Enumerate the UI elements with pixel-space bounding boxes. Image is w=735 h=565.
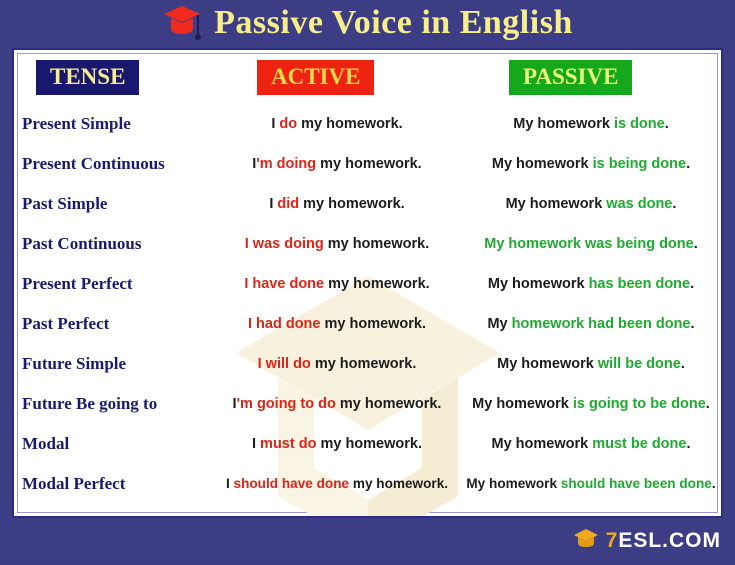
passive-sentence: My homework had been done. xyxy=(462,304,720,344)
passive-pre: My homework xyxy=(488,276,589,292)
active-highlight: I have done xyxy=(244,276,324,292)
active-sentence: I'm doing my homework. xyxy=(212,144,462,184)
passive-post: . xyxy=(672,196,676,212)
passive-pre: My homework xyxy=(491,436,592,452)
active-post: my homework. xyxy=(324,276,430,292)
active-sentence: I have done my homework. xyxy=(212,264,462,304)
passive-sentence: My homework must be done. xyxy=(462,424,720,464)
active-pre: I xyxy=(252,436,260,452)
passive-pre: My homework xyxy=(472,396,573,412)
title-bar: Passive Voice in English xyxy=(0,0,735,46)
active-sentence: I had done my homework. xyxy=(212,304,462,344)
table-header-row: TENSE ACTIVE PASSIVE xyxy=(14,50,721,104)
graduation-cap-icon xyxy=(162,3,202,46)
active-post: my homework. xyxy=(324,236,430,252)
passive-sentence: My homework will be done. xyxy=(462,344,720,384)
table-row: Modal Perfect I should have done my home… xyxy=(14,464,721,504)
active-post: my homework. xyxy=(349,476,448,491)
passive-post: . xyxy=(694,236,698,252)
passive-post: . xyxy=(690,276,694,292)
brand-name: 7ESL.COM xyxy=(606,530,721,551)
passive-post: . xyxy=(681,356,685,372)
passive-pre: My homework xyxy=(513,116,614,132)
active-post: my homework. xyxy=(297,116,403,132)
active-sentence: I'm going to do my homework. xyxy=(212,384,462,424)
passive-pre: My homework xyxy=(466,476,560,491)
tense-label: Past Perfect xyxy=(22,304,212,344)
passive-highlight: is going to be done xyxy=(573,396,706,412)
table-row: Future Simple I will do my homework. My … xyxy=(14,344,721,384)
passive-highlight: homework had been done xyxy=(512,316,691,332)
active-sentence: I should have done my homework. xyxy=(212,464,462,504)
active-sentence: I did my homework. xyxy=(212,184,462,224)
active-highlight: did xyxy=(277,196,299,212)
passive-sentence: My homework is done. xyxy=(462,104,720,144)
passive-post: . xyxy=(706,396,710,412)
column-header-passive: PASSIVE xyxy=(509,60,632,95)
active-highlight: I was doing xyxy=(245,236,324,252)
passive-sentence: My homework is going to be done. xyxy=(462,384,720,424)
passive-post: . xyxy=(686,156,690,172)
active-sentence: I do my homework. xyxy=(212,104,462,144)
active-pre: I xyxy=(226,476,234,491)
active-post: my homework. xyxy=(336,396,442,412)
active-sentence: I was doing my homework. xyxy=(212,224,462,264)
active-highlight: do xyxy=(279,116,297,132)
tense-label: Present Perfect xyxy=(22,264,212,304)
passive-post: . xyxy=(691,316,695,332)
active-post: my homework. xyxy=(316,156,422,172)
passive-highlight: has been done xyxy=(589,276,691,292)
tense-label: Present Continuous xyxy=(22,144,212,184)
table-row: Past Continuous I was doing my homework.… xyxy=(14,224,721,264)
passive-post: . xyxy=(686,436,690,452)
tense-label: Future Be going to xyxy=(22,384,212,424)
active-highlight: 'm doing xyxy=(256,156,316,172)
table-row: Past Simple I did my homework. My homewo… xyxy=(14,184,721,224)
column-header-tense: TENSE xyxy=(36,60,139,95)
tense-label: Future Simple xyxy=(22,344,212,384)
passive-pre: My homework xyxy=(506,196,607,212)
active-highlight: I had done xyxy=(248,316,321,332)
brand-seven: 7 xyxy=(606,529,619,552)
tense-label: Modal Perfect xyxy=(22,464,212,504)
passive-pre: My xyxy=(487,316,511,332)
passive-highlight: was done xyxy=(606,196,672,212)
tense-label: Past Continuous xyxy=(22,224,212,264)
passive-pre: My homework xyxy=(492,156,593,172)
table-row: Past Perfect I had done my homework. My … xyxy=(14,304,721,344)
passive-sentence: My homework was being done. xyxy=(462,224,720,264)
active-highlight: must do xyxy=(260,436,316,452)
active-sentence: I will do my homework. xyxy=(212,344,462,384)
active-highlight: 'm going to do xyxy=(237,396,336,412)
active-post: my homework. xyxy=(316,436,422,452)
table-body: Present Simple I do my homework. My home… xyxy=(14,104,721,504)
table-row: Present Continuous I'm doing my homework… xyxy=(14,144,721,184)
passive-sentence: My homework is being done. xyxy=(462,144,720,184)
active-post: my homework. xyxy=(320,316,426,332)
passive-highlight: is being done xyxy=(593,156,686,172)
passive-highlight: will be done xyxy=(598,356,681,372)
passive-sentence: My homework should have been done. xyxy=(462,464,720,504)
table-row: Modal I must do my homework. My homework… xyxy=(14,424,721,464)
table-panel: TENSE ACTIVE PASSIVE Present Simple I do… xyxy=(12,48,723,518)
passive-post: . xyxy=(665,116,669,132)
table-content: TENSE ACTIVE PASSIVE Present Simple I do… xyxy=(14,50,721,516)
table-row: Present Simple I do my homework. My home… xyxy=(14,104,721,144)
active-highlight: should have done xyxy=(234,476,350,491)
passive-pre: My homework xyxy=(497,356,598,372)
passive-highlight: should have been done xyxy=(561,476,712,491)
passive-sentence: My homework was done. xyxy=(462,184,720,224)
active-highlight: I will do xyxy=(258,356,311,372)
tense-label: Modal xyxy=(22,424,212,464)
table-row: Future Be going to I'm going to do my ho… xyxy=(14,384,721,424)
brand-rest: ESL.COM xyxy=(618,529,721,552)
active-post: my homework. xyxy=(299,196,405,212)
active-sentence: I must do my homework. xyxy=(212,424,462,464)
tense-label: Present Simple xyxy=(22,104,212,144)
table-row: Present Perfect I have done my homework.… xyxy=(14,264,721,304)
passive-sentence: My homework has been done. xyxy=(462,264,720,304)
tense-label: Past Simple xyxy=(22,184,212,224)
passive-highlight: must be done xyxy=(592,436,686,452)
graduation-cap-icon xyxy=(573,527,599,554)
active-post: my homework. xyxy=(311,356,417,372)
passive-post: . xyxy=(712,476,716,491)
page-title: Passive Voice in English xyxy=(214,6,573,40)
footer-logo[interactable]: 7ESL.COM xyxy=(573,523,721,557)
passive-highlight: My homework was being done xyxy=(484,236,693,252)
column-header-active: ACTIVE xyxy=(257,60,374,95)
passive-highlight: is done xyxy=(614,116,665,132)
